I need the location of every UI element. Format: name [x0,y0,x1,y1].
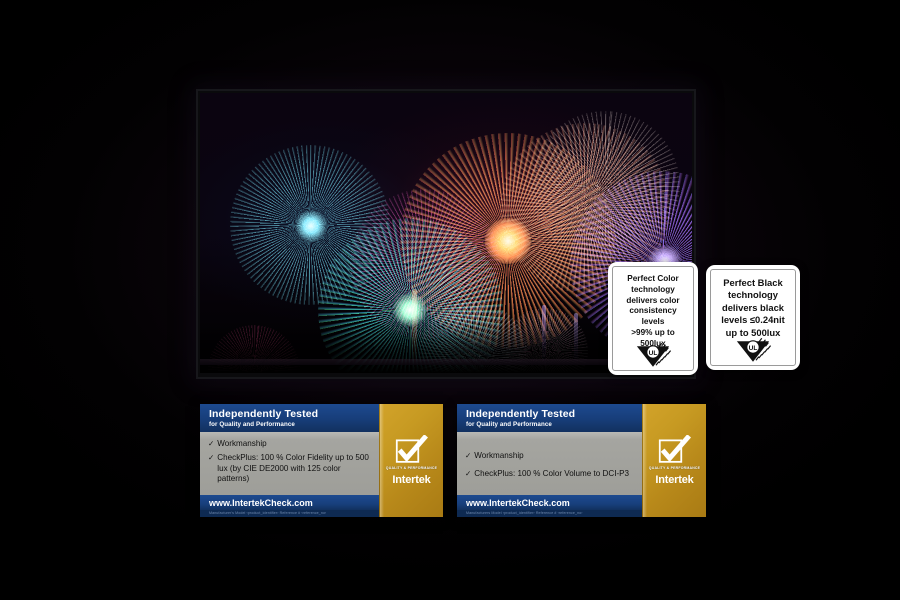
firework-burst-magenta [350,189,500,339]
certificate-url[interactable]: www.IntertekCheck.com [209,498,370,508]
certificate-footer: www.IntertekCheck.com [200,495,379,510]
check-icon: ✓ [465,451,471,461]
svg-text:UL: UL [749,345,758,352]
certificate-card-color-fidelity: Independently Tested for Quality and Per… [200,404,443,517]
callout-perfect-black: Perfect Black technology delivers black … [706,265,800,370]
firework-core-cyan [295,210,327,242]
certificate-item-text: Workmanship [217,439,371,449]
certificate-fineprint: Manufacturer's Model ‹product_identifier… [200,510,379,518]
intertek-logo: QUALITY & PERFORMANCE Intertek [642,404,706,517]
svg-text:UL: UL [649,350,658,357]
callout-perfect-black-text: Perfect Black technology delivers black … [716,277,790,339]
certificate-list-item: ✓ Workmanship [208,439,371,449]
callout-perfect-color-text: Perfect Color technology delivers color … [618,274,688,350]
ul-certification-mark: UL [631,340,675,370]
intertek-brand-name: Intertek [655,474,693,486]
ul-certification-mark: UL [731,335,775,365]
certificate-body: Independently Tested for Quality and Per… [457,404,642,517]
check-icon: ✓ [208,439,214,449]
certificate-footer: www.IntertekCheck.com [457,495,642,510]
certificate-fineprint: Manufacturers Model ‹product_identifier›… [457,510,642,518]
intertek-checkmark-icon [657,435,693,469]
firework-burst-red [400,133,615,348]
callout-perfect-color: Perfect Color technology delivers color … [608,262,698,375]
certificate-header-title: Independently Tested [209,408,371,420]
intertek-brand-name: Intertek [392,474,430,486]
certificate-item-text: CheckPlus: 100 % Color Volume to DCI-P3 [474,469,634,479]
scene-stage: Perfect Color technology delivers color … [0,0,900,600]
certificate-item-list: ✓ Workmanship ✓ CheckPlus: 100 % Color V… [457,432,642,494]
certificate-header-subtitle: for Quality and Performance [209,421,371,428]
intertek-logo: QUALITY & PERFORMANCE Intertek [379,404,443,517]
callout-perfect-color-inner: Perfect Color technology delivers color … [612,266,694,371]
firework-burst-white [530,111,680,261]
certificate-item-list: ✓ Workmanship ✓ CheckPlus: 100 % Color F… [200,432,379,494]
certificate-card-color-volume: Independently Tested for Quality and Per… [457,404,706,517]
certificate-list-item: ✓ Workmanship [465,451,634,461]
callout-perfect-black-inner: Perfect Black technology delivers black … [710,269,796,366]
intertek-checkmark-icon [394,435,430,469]
certificate-url[interactable]: www.IntertekCheck.com [466,498,633,508]
check-icon: ✓ [208,453,214,463]
certificate-list-item: ✓ CheckPlus: 100 % Color Volume to DCI-P… [465,469,634,479]
firework-burst-cyan [230,145,390,305]
certificate-header-subtitle: for Quality and Performance [466,421,634,428]
certificate-list-item: ✓ CheckPlus: 100 % Color Fidelity up to … [208,453,371,484]
certificate-header-title: Independently Tested [466,408,634,420]
certificate-header: Independently Tested for Quality and Per… [457,404,642,432]
certificate-item-text: Workmanship [474,451,634,461]
certificate-item-text: CheckPlus: 100 % Color Fidelity up to 50… [217,453,371,484]
certificate-header: Independently Tested for Quality and Per… [200,404,379,432]
certificate-body: Independently Tested for Quality and Per… [200,404,379,517]
firework-core-red [485,218,531,264]
check-icon: ✓ [465,469,471,479]
